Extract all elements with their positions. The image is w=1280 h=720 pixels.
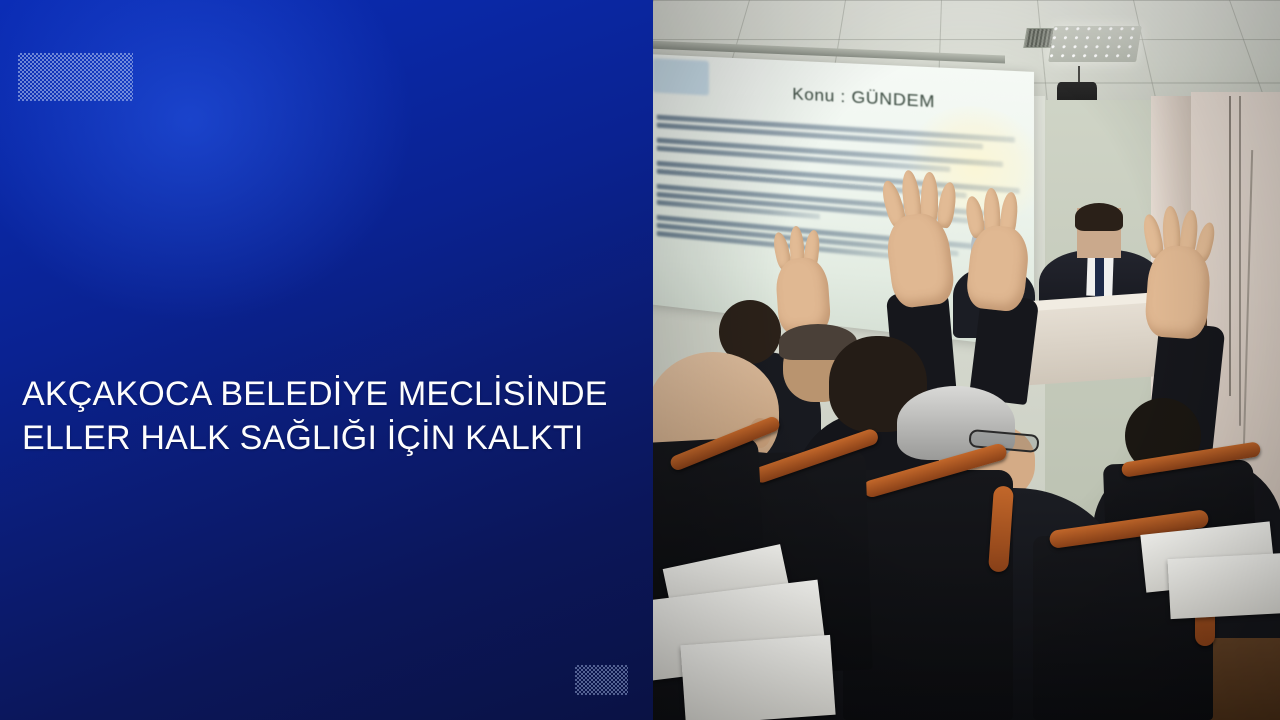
- council-meeting-photo: Konu : GÜNDEM: [653, 0, 1280, 720]
- photo-vignette: [653, 0, 1280, 720]
- logo-placeholder: [18, 53, 133, 101]
- footer-placeholder: [575, 665, 628, 695]
- page-title: AKÇAKOCA BELEDİYE MECLİSİNDE ELLER HALK …: [22, 372, 632, 460]
- headline-panel: AKÇAKOCA BELEDİYE MECLİSİNDE ELLER HALK …: [0, 0, 653, 720]
- news-card: AKÇAKOCA BELEDİYE MECLİSİNDE ELLER HALK …: [0, 0, 1280, 720]
